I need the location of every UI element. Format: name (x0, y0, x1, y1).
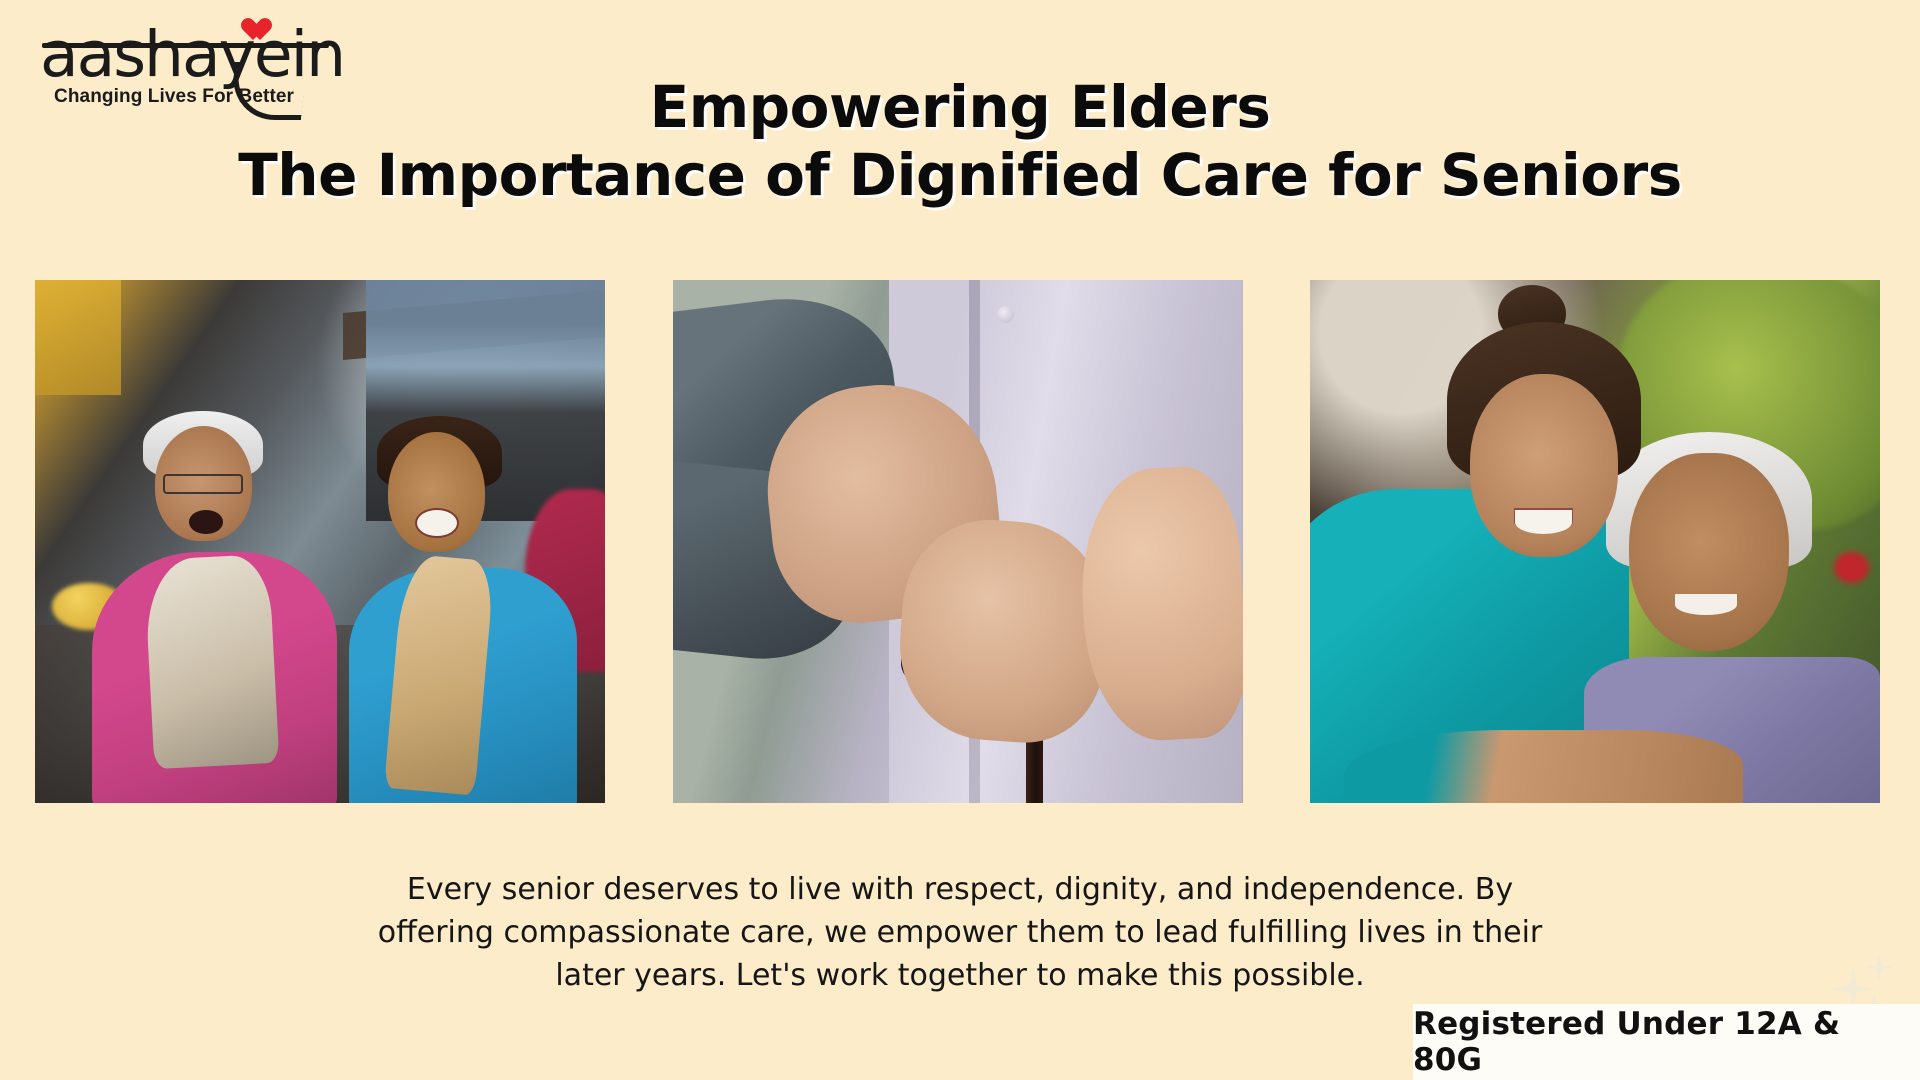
title-line-1: Empowering Elders (0, 78, 1920, 138)
title-line-2: The Importance of Dignified Care for Sen… (0, 146, 1920, 206)
sparkle-icon (1864, 952, 1894, 982)
photo-gallery (35, 280, 1880, 803)
body-paragraph: Every senior deserves to live with respe… (360, 868, 1560, 998)
logo-mark: aashayein Changing Lives For Better (22, 10, 352, 88)
page-title: Empowering Elders The Importance of Dign… (0, 78, 1920, 205)
registration-badge-label: Registered Under 12A & 80G (1413, 1006, 1920, 1078)
photo-nurse-hugging-elder (1310, 280, 1880, 803)
registration-badge: Registered Under 12A & 80G (1413, 1004, 1920, 1080)
photo-hands-with-cane (673, 280, 1243, 803)
sparkle-decoration (1828, 952, 1920, 1012)
photo-elderly-women-laughing (35, 280, 605, 803)
heart-icon (247, 19, 273, 43)
